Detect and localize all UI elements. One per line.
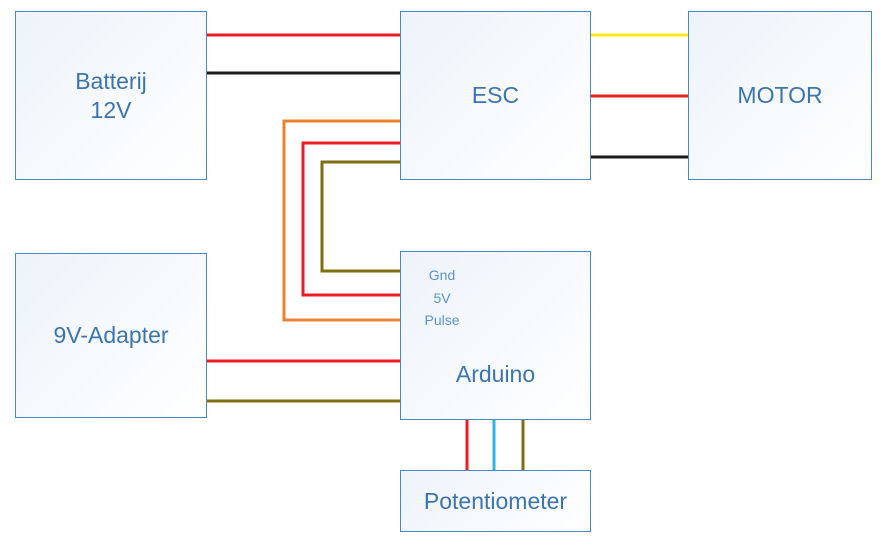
arduino-pin-labels: Gnd5VPulse bbox=[411, 264, 473, 332]
wire-esc-5v-to-arduino-5v bbox=[303, 143, 400, 295]
block-battery-label: Batterij 12V bbox=[75, 67, 147, 123]
block-9v-adapter[interactable]: 9V-Adapter bbox=[15, 253, 207, 418]
block-motor[interactable]: MOTOR bbox=[688, 11, 872, 180]
wire-esc-pulse-to-arduino-pulse bbox=[284, 121, 400, 320]
arduino-pin-5v: 5V bbox=[411, 287, 473, 310]
wire-esc-gnd-to-arduino-gnd bbox=[322, 162, 400, 271]
block-battery[interactable]: Batterij 12V bbox=[15, 11, 207, 180]
block-potentiometer-label: Potentiometer bbox=[424, 487, 567, 515]
block-esc[interactable]: ESC bbox=[400, 11, 591, 180]
block-9v-adapter-label: 9V-Adapter bbox=[53, 321, 168, 349]
block-arduino-label: Arduino bbox=[401, 360, 590, 388]
diagram-canvas: Batterij 12V ESC MOTOR 9V-Adapter Gnd5VP… bbox=[0, 0, 886, 541]
block-potentiometer[interactable]: Potentiometer bbox=[400, 470, 591, 532]
arduino-pin-pulse: Pulse bbox=[411, 309, 473, 332]
arduino-pin-gnd: Gnd bbox=[411, 264, 473, 287]
block-esc-label: ESC bbox=[472, 81, 519, 109]
block-arduino[interactable]: Gnd5VPulse Arduino bbox=[400, 251, 591, 420]
block-motor-label: MOTOR bbox=[737, 81, 822, 109]
